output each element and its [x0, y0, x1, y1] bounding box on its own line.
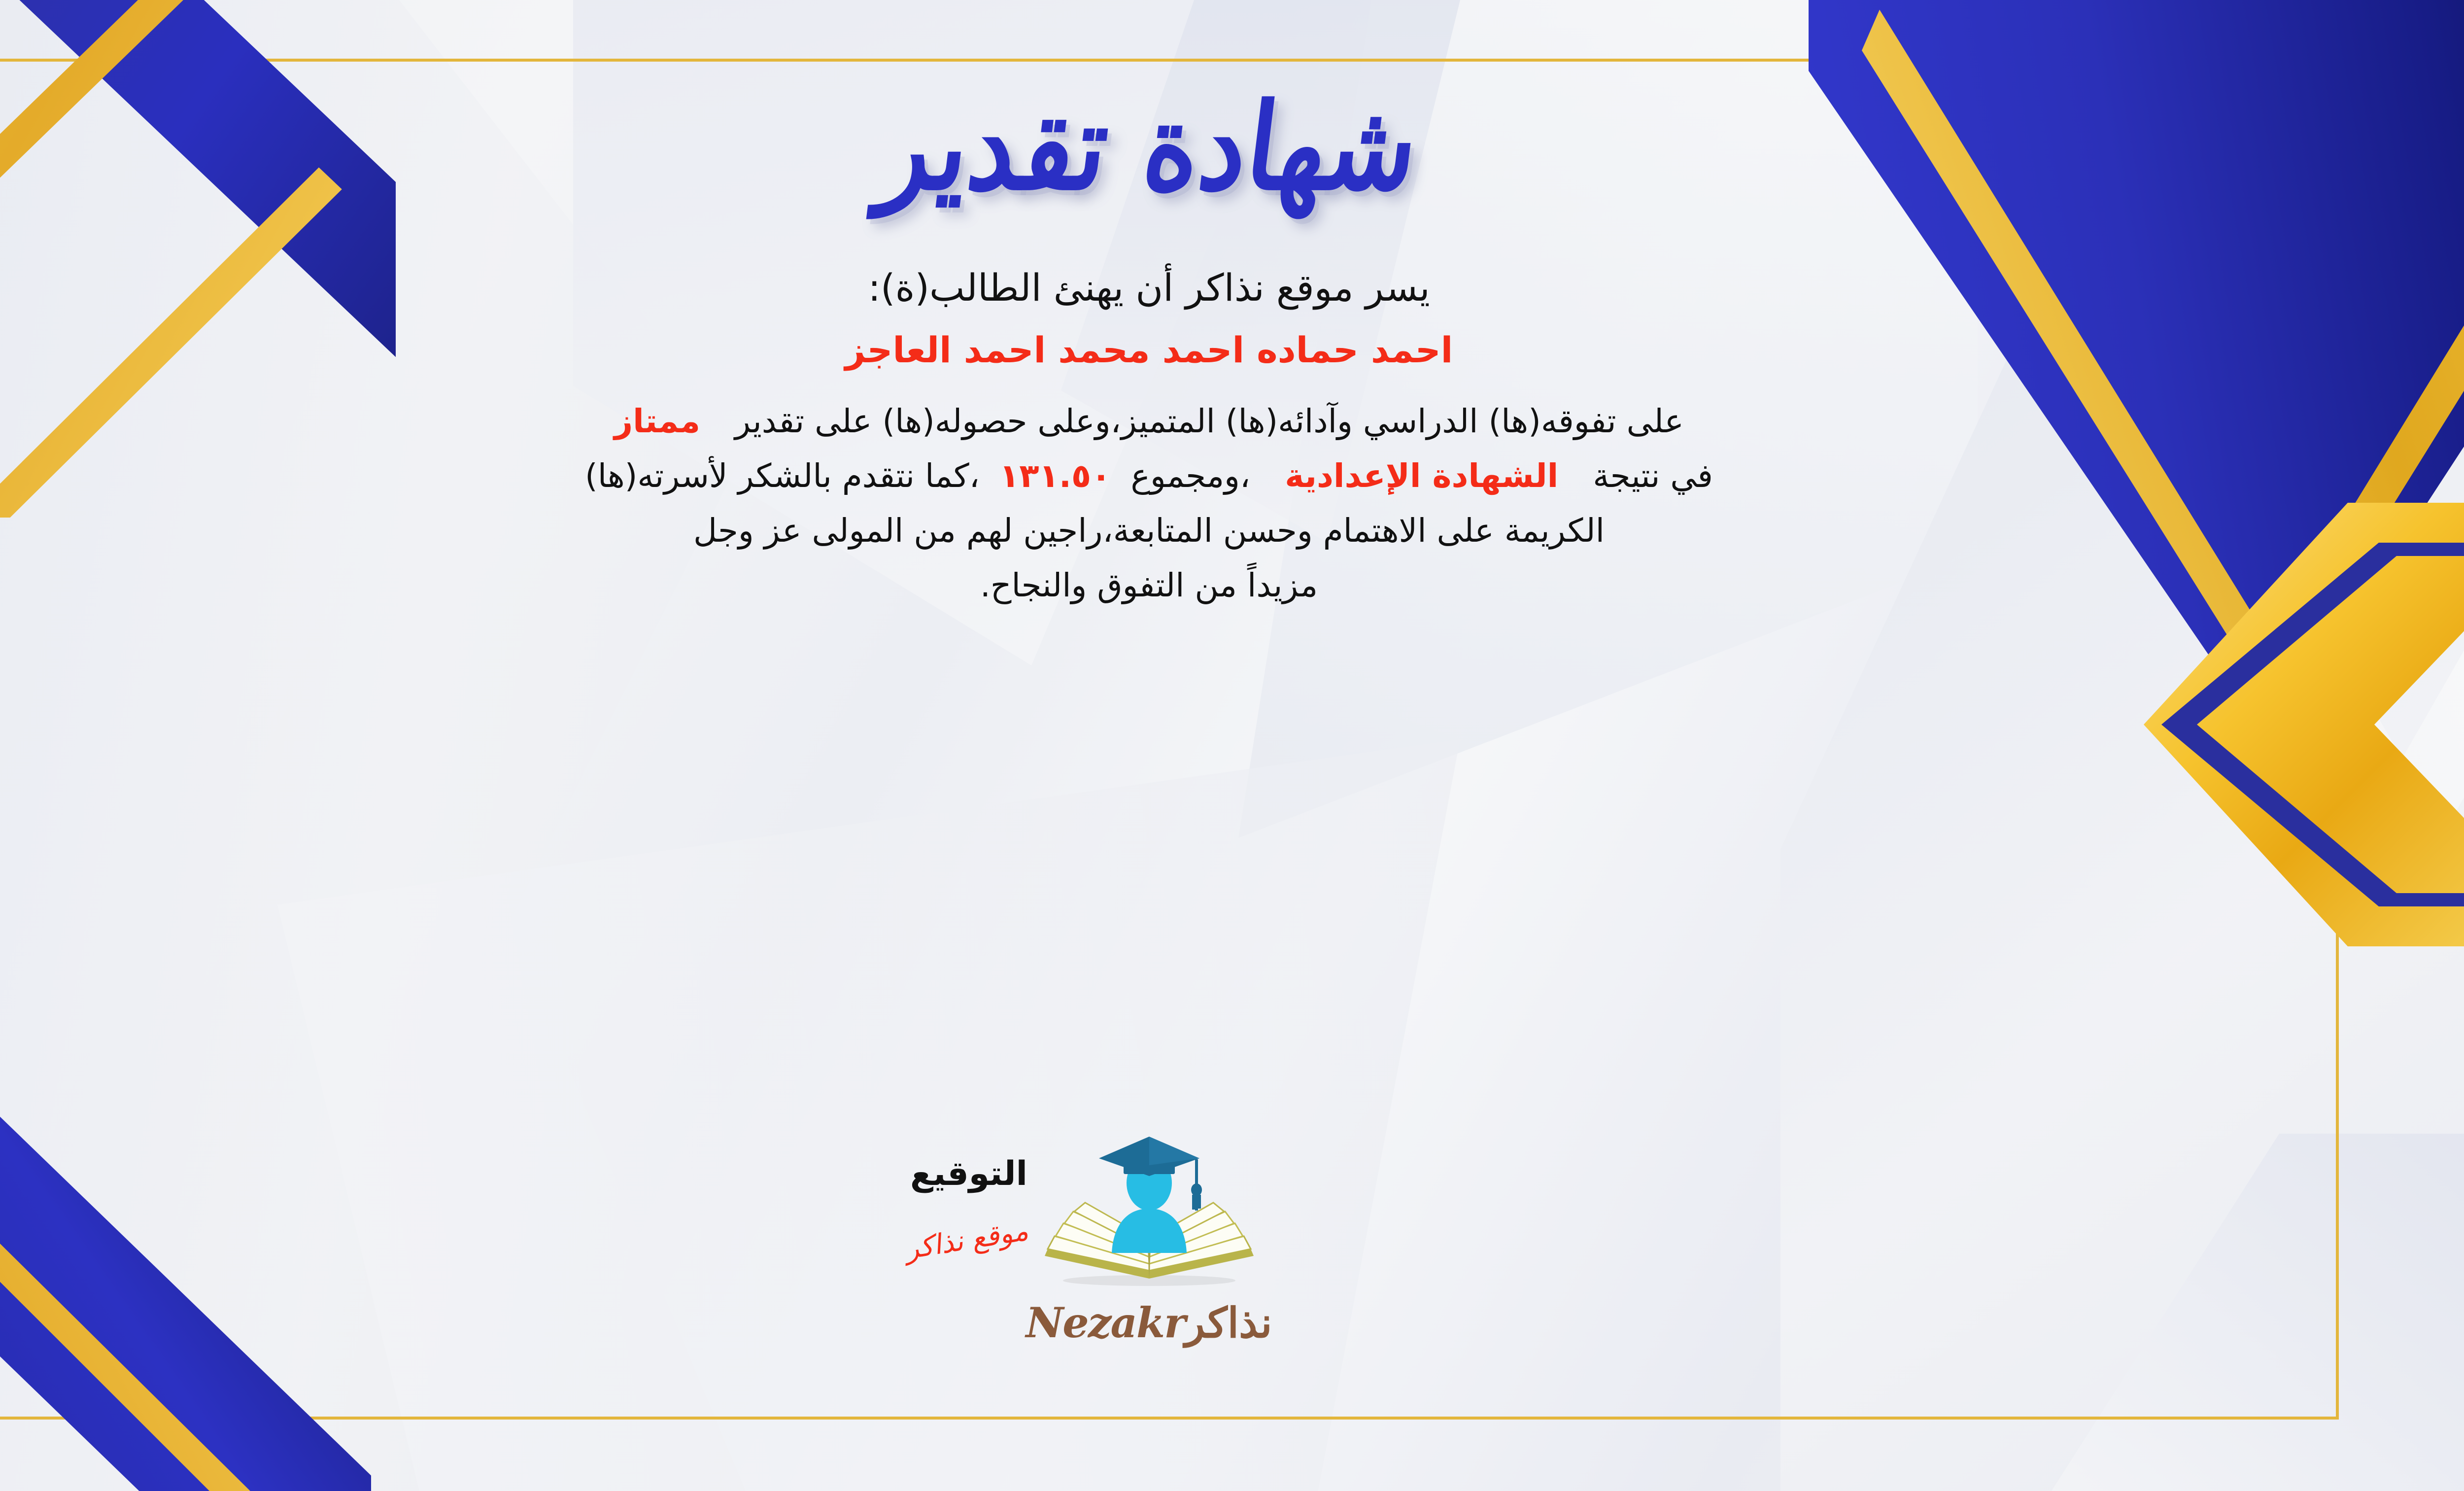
body-line-3: الكريمة على الاهتمام وحسن المتابعة،راجين… [0, 504, 2317, 558]
brand-name-latin: Nezakr [1026, 1298, 1185, 1347]
brand-name-arabic: نذاكر [1185, 1298, 1272, 1347]
certificate-body: على تفوقه(ها) الدراسي وآدائه(ها) المتميز… [0, 394, 2339, 613]
graduate-book-logo-icon [1026, 1135, 1272, 1297]
body-line-2-mid: ،ومجموع [1130, 457, 1250, 495]
certificate-page: شهادة تقدير يسر موقع نذاكر أن يهنئ الطال… [0, 0, 2464, 1491]
certificate-content: شهادة تقدير يسر موقع نذاكر أن يهنئ الطال… [0, 59, 2339, 1420]
student-name: احمد حماده احمد محمد احمد العاجز [0, 329, 2339, 371]
certificate-title: شهادة تقدير [874, 87, 1424, 206]
certificate-footer: التوقيع موقع نذاكر [0, 1135, 2339, 1411]
body-line-2: في نتيجةالشهادة الإعدادية،ومجموع١٣١.٥٠،ك… [0, 449, 2317, 504]
title-area: شهادة تقدير [0, 72, 2339, 220]
body-line-1: على تفوقه(ها) الدراسي وآدائه(ها) المتميز… [0, 394, 2317, 449]
body-line-2-prefix: في نتيجة [1593, 457, 1713, 495]
body-line-4: مزيداً من التفوق والنجاح. [0, 558, 2317, 613]
body-line-2-suffix: ،كما نتقدم بالشكر لأسرته(ها) [585, 457, 980, 495]
grade-value: ممتاز [614, 402, 700, 440]
brand-logo-text: نذاكرNezakr [947, 1298, 1351, 1347]
brand-logo: نذاكرNezakr [947, 1135, 1351, 1347]
exam-name: الشهادة الإعدادية [1285, 457, 1558, 495]
body-line-1-text: على تفوقه(ها) الدراسي وآدائه(ها) المتميز… [735, 402, 1684, 440]
greeting-line: يسر موقع نذاكر أن يهنئ الطالب(ة): [0, 266, 2339, 310]
total-score: ١٣١.٥٠ [999, 457, 1111, 495]
